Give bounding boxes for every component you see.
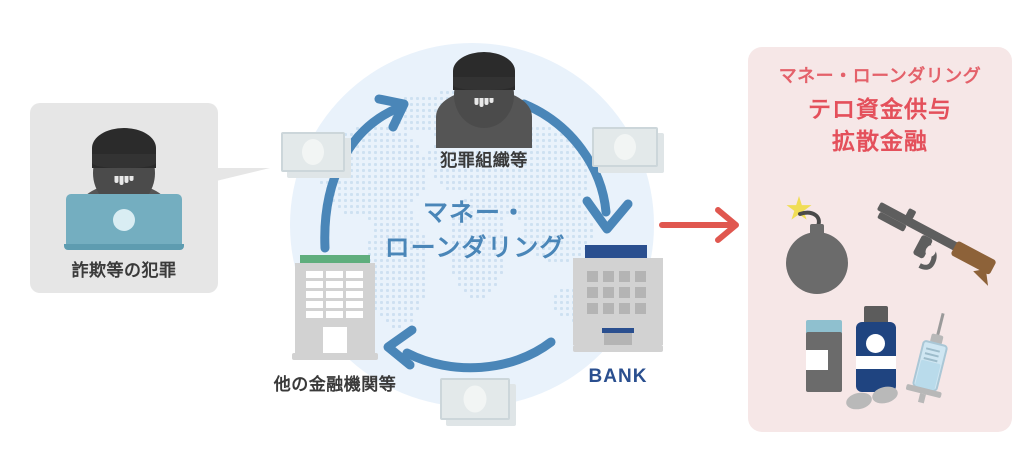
outcome-line-1: マネー・ローンダリング [748, 62, 1012, 88]
outcome-line-2: テロ資金供与 [748, 90, 1012, 124]
crime-card-label: 詐欺等の犯罪 [30, 256, 218, 281]
center-label-line2: ローンダリング [350, 231, 600, 266]
masked-criminal-icon [432, 48, 536, 148]
diagram-canvas: 詐欺等の犯罪 犯罪組織等 [0, 0, 1024, 450]
bomb-icon [786, 232, 848, 294]
outcome-line-3: 拡散金融 [748, 122, 1012, 156]
banknote-icon-top-left [281, 132, 345, 172]
office-building-icon [295, 255, 375, 365]
pill-bottle-label [806, 350, 828, 370]
center-label-line1: マネー・ [350, 196, 600, 231]
label-criminal-organization: 犯罪組織等 [414, 146, 554, 171]
medicine-bottle-dot [866, 334, 885, 353]
banknote-icon-top-right [592, 127, 658, 167]
medicine-bottle-band [856, 356, 896, 369]
rifle-icon [860, 196, 1000, 296]
center-label: マネー・ ローンダリング [350, 196, 600, 265]
crime-card-pointer [212, 168, 270, 182]
label-bank: BANK [563, 366, 673, 388]
banknote-icon-bottom [440, 378, 510, 420]
label-other-financial-institution: 他の金融機関等 [255, 370, 415, 395]
hacker-with-laptop-icon [72, 120, 176, 250]
syringe-icon [902, 310, 962, 406]
